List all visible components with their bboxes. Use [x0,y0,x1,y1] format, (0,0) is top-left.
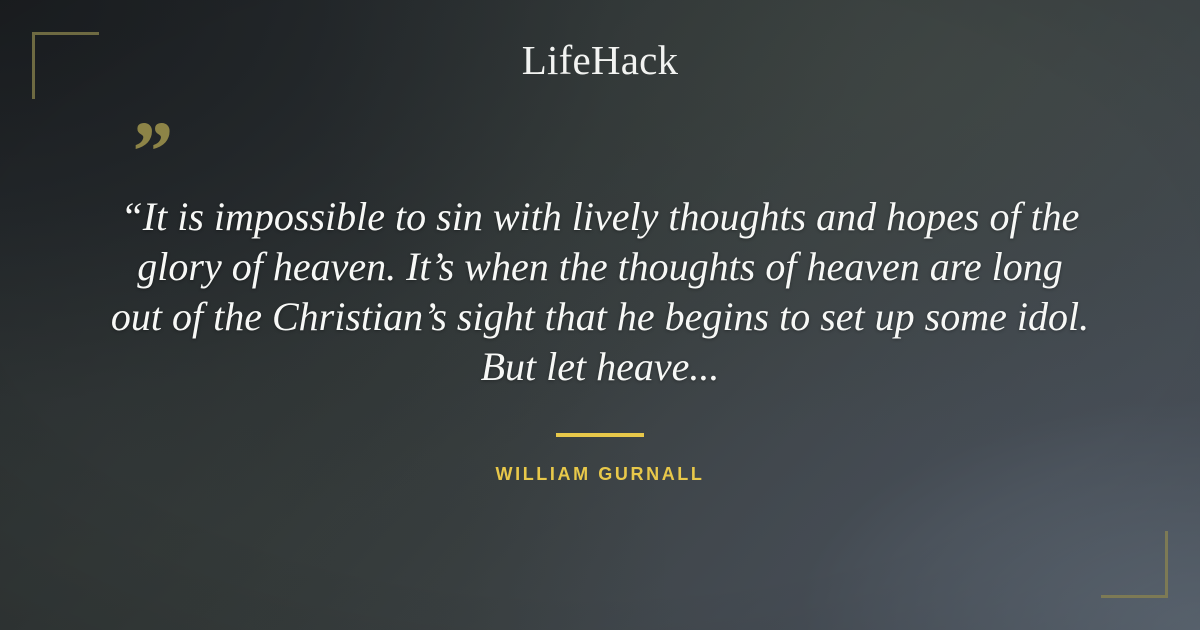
quote-line: glory of heaven. It’s when the thoughts … [96,242,1104,292]
quote-line: out of the Christian’s sight that he beg… [96,292,1104,342]
brand-logo: LifeHack [0,40,1200,81]
divider-container [0,433,1200,437]
quote-card: LifeHack ” “It is impossible to sin with… [0,0,1200,630]
quotation-mark-icon: ” [128,108,171,194]
author-attribution: WILLIAM GURNALL [0,464,1200,485]
card-content: LifeHack ” “It is impossible to sin with… [0,0,1200,630]
quote-line: “It is impossible to sin with lively tho… [96,192,1104,242]
accent-divider [556,433,644,437]
quote-text: “It is impossible to sin with lively tho… [96,192,1104,392]
quote-line: But let heave... [96,342,1104,392]
